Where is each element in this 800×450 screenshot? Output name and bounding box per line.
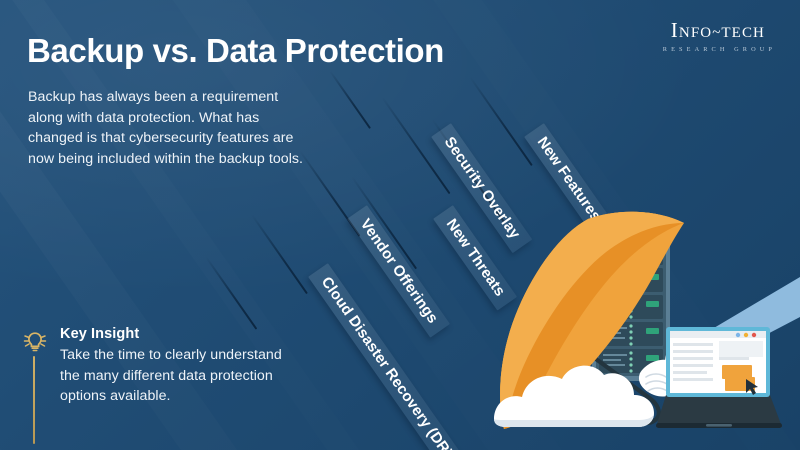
page-title: Backup vs. Data Protection xyxy=(27,34,587,69)
lightbulb-icon xyxy=(22,330,48,354)
laptop-icon xyxy=(656,327,782,428)
slide: Backup vs. Data Protection Backup has al… xyxy=(0,0,800,450)
label-vendor-offerings: Vendor Offerings xyxy=(347,205,450,338)
label-cloud-disaster-recovery: Cloud Disaster Recovery (DR) xyxy=(308,263,464,450)
brand-logo: INFO~TECH RESEARCH GROUP xyxy=(660,20,776,53)
logo-subtitle: RESEARCH GROUP xyxy=(660,46,776,53)
key-insight: Key Insight Take the time to clearly und… xyxy=(22,326,282,406)
logo-wordmark: INFO~TECH xyxy=(660,20,776,41)
key-insight-rule xyxy=(33,356,35,444)
illustration xyxy=(470,205,800,450)
key-insight-text: Take the time to clearly understand the … xyxy=(60,345,282,405)
body-paragraph: Backup has always been a requirement alo… xyxy=(28,87,306,169)
logo-wordmark-rest: NFO~TECH xyxy=(679,25,765,41)
key-insight-title: Key Insight xyxy=(60,326,282,343)
